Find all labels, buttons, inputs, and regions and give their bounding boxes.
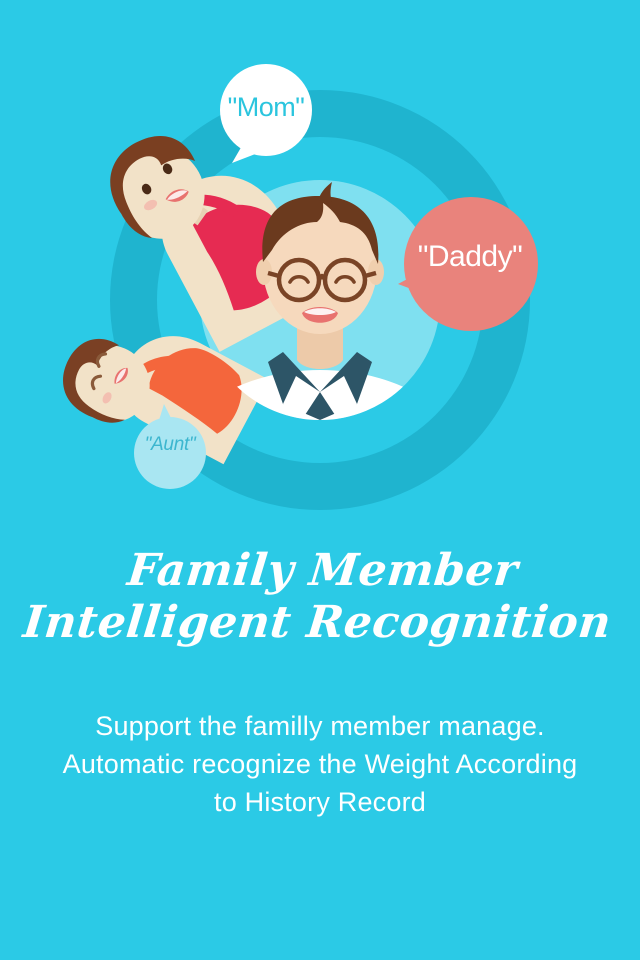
page-subtitle: Support the familly member manage. Autom… (0, 707, 640, 821)
page-subtitle-line-3: to History Record (0, 783, 640, 821)
onboarding-screen: "Mom" "Daddy" "Aunt" Family Member Intel… (0, 0, 640, 960)
page-title: Family Member Intelligent Recognition (0, 545, 640, 649)
page-title-line-2: Intelligent Recognition (0, 597, 640, 649)
page-subtitle-line-2: Automatic recognize the Weight According (0, 745, 640, 783)
page-subtitle-line-1: Support the familly member manage. (0, 707, 640, 745)
page-title-line-1: Family Member (0, 545, 640, 597)
family-member-recognition-illustration: "Mom" "Daddy" "Aunt" (0, 0, 640, 520)
onboarding-text-block: Family Member Intelligent Recognition Su… (0, 545, 640, 821)
